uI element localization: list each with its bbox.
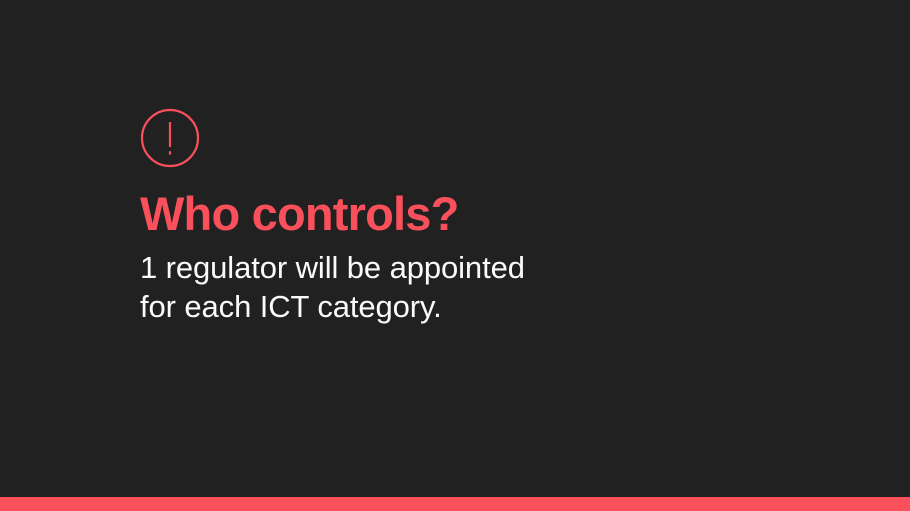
alert-exclamation-circle-icon xyxy=(140,108,200,168)
body-copy: 1 regulator will be appointed for each I… xyxy=(140,248,840,326)
page-title: Who controls? xyxy=(140,190,840,239)
body-copy-line: for each ICT category. xyxy=(140,287,840,326)
slide-canvas: Who controls? 1 regulator will be appoin… xyxy=(0,0,910,511)
slide-content: Who controls? 1 regulator will be appoin… xyxy=(140,108,840,326)
bottom-accent-bar xyxy=(0,497,910,511)
body-copy-line: 1 regulator will be appointed xyxy=(140,248,840,287)
